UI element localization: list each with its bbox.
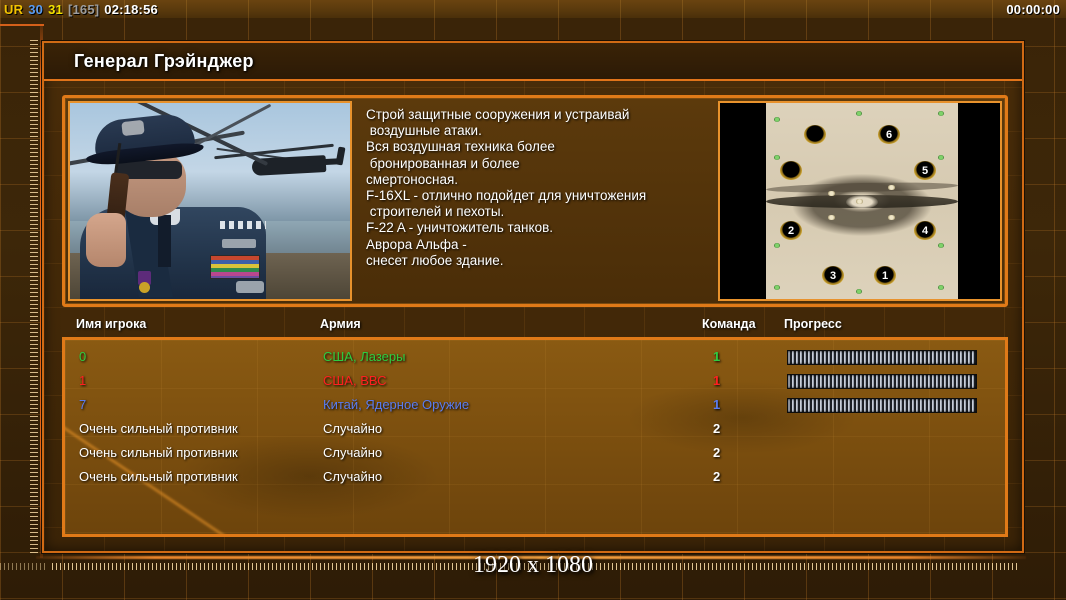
map-start-position-3: 3 <box>822 266 844 285</box>
cell-player-name: Очень сильный противник <box>79 469 238 484</box>
table-row[interactable]: Очень сильный противникСлучайно2 <box>65 466 1005 490</box>
cell-player-name: 7 <box>79 397 86 412</box>
cell-player-name: 0 <box>79 349 86 364</box>
cell-progress <box>787 374 977 389</box>
cell-player-name: Очень сильный противник <box>79 445 238 460</box>
description-line: Аврора Альфа - <box>366 237 712 253</box>
map-resource-icon <box>938 155 944 160</box>
map-start-position-2: 2 <box>780 221 802 240</box>
description-line: бронированная и более <box>366 156 712 172</box>
table-row[interactable]: 1США, ВВС1 <box>65 370 1005 394</box>
cell-player-name: 1 <box>79 373 86 388</box>
player-table-header: Имя игрока Армия Команда Прогресс <box>62 315 1008 337</box>
map-resource-icon <box>774 155 780 160</box>
map-supply-icon <box>888 215 895 220</box>
cell-team: 1 <box>713 397 720 412</box>
column-header-progress: Прогресс <box>784 317 842 331</box>
general-wings-badge-icon <box>222 239 256 248</box>
description-line: Вся воздушная техника более <box>366 139 712 155</box>
map-preview[interactable]: 652431 <box>718 101 1002 301</box>
progress-bar <box>787 398 977 413</box>
general-description: Строй защитные сооружения и устраивай во… <box>352 101 718 301</box>
map-resource-icon <box>856 111 862 116</box>
cell-army: США, ВВС <box>323 373 387 388</box>
column-header-team: Команда <box>702 317 756 331</box>
resolution-label: 1920 x 1080 <box>0 552 1066 579</box>
status-bracket-value: [165] <box>68 2 99 17</box>
description-line: смертоносная. <box>366 172 712 188</box>
cell-army: Случайно <box>323 421 382 436</box>
map-start-position-empty <box>804 125 826 144</box>
map-start-position-6: 6 <box>878 125 900 144</box>
general-select-dialog: Генерал Грэйнджер <box>42 41 1024 553</box>
cell-progress <box>787 350 977 365</box>
general-info-panel: Строй защитные сооружения и устраивай во… <box>62 95 1008 307</box>
ruler-strip-left <box>30 40 38 555</box>
general-tie <box>158 215 171 267</box>
status-ur-label: UR <box>4 2 23 17</box>
status-number-yellow: 31 <box>48 2 63 17</box>
description-line: Строй защитные сооружения и устраивай <box>366 107 712 123</box>
map-resource-icon <box>856 289 862 294</box>
cell-army: США, Лазеры <box>323 349 405 364</box>
column-header-army: Армия <box>320 317 361 331</box>
description-line: снесет любое здание. <box>366 253 712 269</box>
map-resource-icon <box>938 285 944 290</box>
map-supply-icon <box>828 215 835 220</box>
map-resource-icon <box>938 111 944 116</box>
cell-team: 2 <box>713 421 720 436</box>
map-start-position-5: 5 <box>914 161 936 180</box>
map-resource-icon <box>774 285 780 290</box>
cell-progress <box>787 398 977 413</box>
cell-army: Случайно <box>323 445 382 460</box>
cell-player-name: Очень сильный противник <box>79 421 238 436</box>
general-medal-icon <box>138 271 151 285</box>
cell-team: 1 <box>713 349 720 364</box>
table-row[interactable]: Очень сильный противникСлучайно2 <box>65 418 1005 442</box>
dialog-titlebar: Генерал Грэйнджер <box>44 43 1022 81</box>
map-start-position-empty <box>780 161 802 180</box>
progress-bar <box>787 374 977 389</box>
map-supply-icon <box>888 185 895 190</box>
status-clock-right: 00:00:00 <box>1006 2 1066 17</box>
status-clock-left: 02:18:56 <box>104 2 158 17</box>
status-number-blue: 30 <box>28 2 43 17</box>
general-cap-badge-icon <box>121 120 144 136</box>
map-start-position-4: 4 <box>914 221 936 240</box>
table-row[interactable]: 0США, Лазеры1 <box>65 346 1005 370</box>
general-ribbon-rack <box>210 255 260 279</box>
general-belt-badge-icon <box>236 281 264 293</box>
progress-bar <box>787 350 977 365</box>
cell-army: Китай, Ядерное Оружие <box>323 397 469 412</box>
page-title: Генерал Грэйнджер <box>44 51 254 72</box>
description-line: F-22 A - уничтожитель танков. <box>366 220 712 236</box>
top-status-bar: UR 30 31 [165] 02:18:56 00:00:00 <box>0 0 1066 18</box>
general-rank-stars <box>220 221 266 229</box>
table-row[interactable]: Очень сильный противникСлучайно2 <box>65 442 1005 466</box>
description-line: F-16XL - отлично подойдет для уничтожени… <box>366 188 712 204</box>
map-start-position-1: 1 <box>874 266 896 285</box>
map-supply-icon <box>856 199 863 204</box>
map-resource-icon <box>774 117 780 122</box>
helicopter-fin-icon <box>335 147 345 166</box>
description-line: строителей и пехоты. <box>366 204 712 220</box>
cell-team: 2 <box>713 469 720 484</box>
cell-army: Случайно <box>323 469 382 484</box>
game-lobby-screen: UR 30 31 [165] 02:18:56 00:00:00 Генерал… <box>0 0 1066 600</box>
column-header-player-name: Имя игрока <box>76 317 146 331</box>
map-resource-icon <box>938 243 944 248</box>
general-portrait <box>68 101 352 301</box>
general-hand <box>86 213 126 267</box>
frame-accent-top <box>0 24 44 26</box>
status-left-group: UR 30 31 [165] 02:18:56 <box>0 2 158 17</box>
player-table: 0США, Лазеры11США, ВВС17Китай, Ядерное О… <box>62 337 1008 537</box>
cell-team: 1 <box>713 373 720 388</box>
map-resource-icon <box>774 243 780 248</box>
map-supply-icon <box>828 191 835 196</box>
cell-team: 2 <box>713 445 720 460</box>
description-line: воздушные атаки. <box>366 123 712 139</box>
table-row[interactable]: 7Китай, Ядерное Оружие1 <box>65 394 1005 418</box>
